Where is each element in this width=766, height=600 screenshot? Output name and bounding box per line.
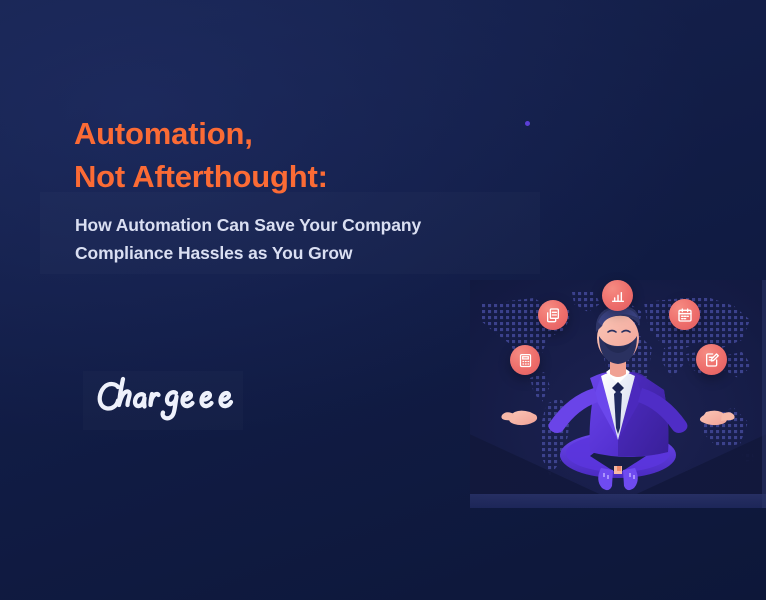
meditating-businessman xyxy=(470,280,766,508)
stage-floor xyxy=(470,494,766,508)
chargebee-logo xyxy=(90,369,240,425)
subhead-line-1: How Automation Can Save Your Company xyxy=(75,215,421,235)
panel-right-edge xyxy=(762,280,766,508)
calculator-icon xyxy=(510,345,540,375)
headline-line-1: Automation, xyxy=(74,116,253,151)
calendar-icon xyxy=(669,299,700,330)
headline-line-2: Not Afterthought: xyxy=(74,155,544,198)
bar-chart-icon xyxy=(602,280,633,311)
hero-illustration xyxy=(470,280,766,508)
subhead-line-2: Compliance Hassles as You Grow xyxy=(75,243,352,263)
page-subtitle: How Automation Can Save Your Company Com… xyxy=(75,212,545,267)
page-title: Automation, Not Afterthought: xyxy=(74,112,544,199)
banner-canvas: Automation, Not Afterthought: How Automa… xyxy=(0,0,766,600)
edit-document-icon xyxy=(696,344,727,375)
documents-icon xyxy=(538,300,568,330)
